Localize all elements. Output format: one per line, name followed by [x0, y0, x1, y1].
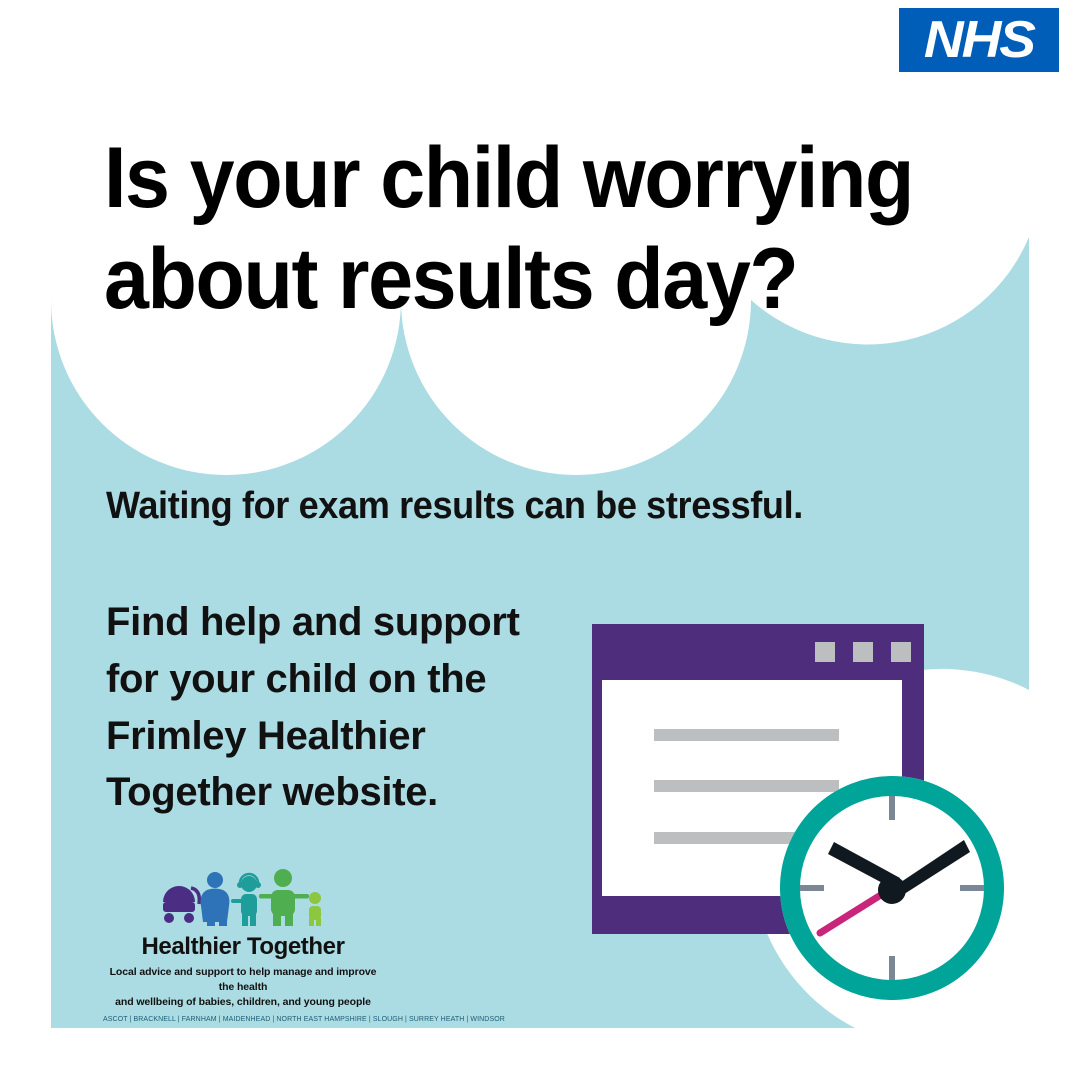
- body-line-4: Together website.: [106, 764, 576, 821]
- subheading: Waiting for exam results can be stressfu…: [106, 484, 923, 530]
- child-figure-icon: [231, 874, 261, 926]
- browser-titlebar: [592, 624, 924, 680]
- headline-line-1: Is your child worrying: [104, 128, 931, 229]
- mother-figure-icon: [201, 872, 230, 926]
- healthier-together-family-figures: [103, 868, 383, 932]
- tagline-line-1: Local advice and support to help manage …: [109, 965, 377, 994]
- pram-icon: [163, 886, 199, 923]
- nhs-logo-text: NHS: [924, 14, 1034, 66]
- window-button-maximize-icon: [853, 642, 873, 662]
- healthier-together-title: Healthier Together: [103, 934, 383, 960]
- healthier-together-places: ASCOT | BRACKNELL | FARNHAM | MAIDENHEAD…: [103, 1016, 383, 1024]
- healthier-together-tagline: Local advice and support to help manage …: [103, 965, 383, 1009]
- headline-line-2: about results day?: [104, 229, 931, 330]
- body-line-1: Find help and support: [106, 594, 576, 651]
- clock-illustration: [772, 768, 1012, 1008]
- body-line-2: for your child on the: [106, 651, 576, 708]
- clock-center-hub: [878, 876, 906, 904]
- body-line-3: Frimley Healthier: [106, 708, 576, 765]
- window-button-minimize-icon: [815, 642, 835, 662]
- poster-canvas: NHS Is your child worrying about results…: [0, 0, 1080, 1080]
- father-figure-icon: [259, 869, 309, 926]
- window-button-close-icon: [891, 642, 911, 662]
- toddler-figure-icon: [309, 892, 321, 926]
- nhs-logo: NHS: [899, 8, 1059, 72]
- healthier-together-logo: Healthier Together Local advice and supp…: [103, 868, 383, 1025]
- page-title: Is your child worrying about results day…: [104, 128, 931, 331]
- tagline-line-2: and wellbeing of babies, children, and y…: [109, 995, 377, 1010]
- body-copy: Find help and support for your child on …: [106, 594, 576, 821]
- content-line-1: [654, 729, 839, 741]
